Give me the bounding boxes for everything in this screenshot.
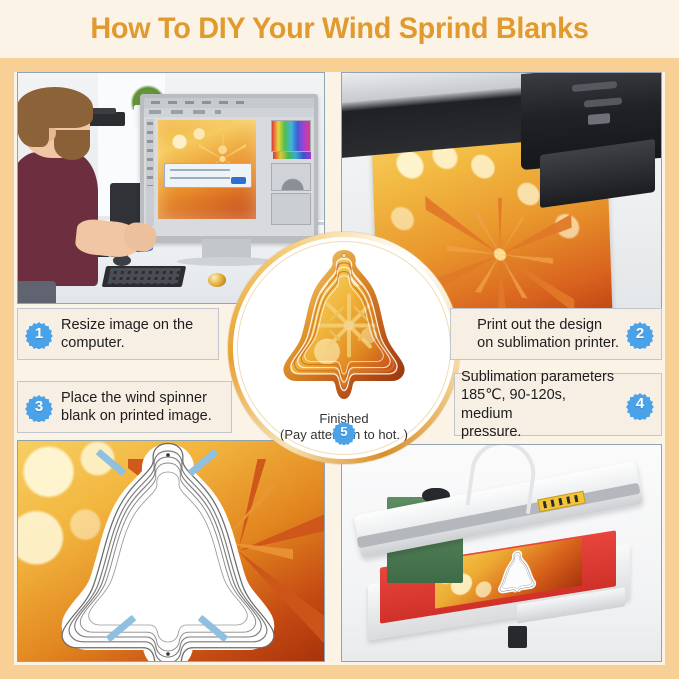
bell-spinner-icon: [269, 243, 419, 408]
step-badge-3: 3: [24, 392, 54, 422]
layers-panel: [271, 193, 310, 225]
app-toolbar: [144, 108, 314, 118]
person-beard: [54, 130, 91, 160]
step-badge-5: 5: [331, 419, 357, 445]
caption-step-1-text: Resize image on the computer.: [61, 316, 193, 352]
app-tool-palette: [146, 119, 155, 226]
app-menu-bar: [144, 98, 314, 108]
gold-ornament-ball: [208, 273, 226, 287]
histogram-panel: [271, 163, 310, 191]
color-picker-panel: [271, 120, 310, 152]
caption-3-line-2: blank on printed image.: [61, 407, 212, 425]
step-badge-4: 4: [625, 390, 655, 420]
caption-4-line-3: pressure.: [461, 423, 619, 441]
heat-press-handle: [465, 444, 539, 514]
caption-step-2: Print out the design on sublimation prin…: [450, 308, 662, 360]
step-badge-2-number: 2: [636, 325, 644, 344]
caption-step-1: 1 Resize image on the computer.: [17, 308, 219, 360]
caption-2-line-1: Print out the design: [477, 316, 619, 334]
frame-band-bottom: [0, 665, 679, 679]
caption-4-line-2: 185℃, 90-120s, medium: [461, 386, 619, 422]
printer-power-button: [588, 113, 610, 125]
heat-press-foot: [508, 626, 527, 648]
color-spectrum-strip: [273, 152, 310, 159]
dialog-ok-button: [231, 177, 246, 184]
caption-step-4-text: Sublimation parameters 185℃, 90-120s, me…: [461, 368, 619, 441]
page-title: How To DIY Your Wind Sprind Blanks: [90, 12, 588, 46]
frame-band-left: [0, 58, 14, 679]
caption-4-line-1: Sublimation parameters: [461, 368, 619, 386]
monitor-screen: [144, 98, 314, 236]
caption-2-line-2: on sublimation printer.: [477, 334, 619, 352]
caption-step-2-text: Print out the design on sublimation prin…: [477, 316, 619, 352]
frame-band-right: [665, 58, 679, 679]
person-hair-side: [17, 104, 49, 147]
finished-caption: Finished (Pay attention to hot. ) 5: [233, 411, 455, 444]
frame-band-top: [0, 58, 679, 72]
step-badge-5-number: 5: [340, 424, 347, 440]
step-badge-1-number: 1: [35, 325, 43, 344]
title-bar: How To DIY Your Wind Sprind Blanks: [0, 0, 679, 58]
computer-monitor: [140, 94, 317, 244]
caption-1-line-1: Resize image on the: [61, 316, 193, 334]
step-badge-1: 1: [24, 319, 54, 349]
step-badge-4-number: 4: [636, 395, 644, 414]
infographic-page: How To DIY Your Wind Sprind Blanks: [0, 0, 679, 679]
photo-step-3-place-blank: [17, 440, 325, 662]
step-badge-3-number: 3: [35, 398, 43, 417]
caption-step-3: 3 Place the wind spinner blank on printe…: [17, 381, 232, 433]
person-at-desk: [17, 87, 134, 303]
person-leg: [17, 281, 56, 304]
caption-step-3-text: Place the wind spinner blank on printed …: [61, 389, 212, 425]
resize-dialog: [164, 163, 251, 188]
photo-step-4-heat-press: [341, 444, 662, 662]
caption-step-4: Sublimation parameters 185℃, 90-120s, me…: [454, 373, 662, 436]
caption-3-line-1: Place the wind spinner: [61, 389, 212, 407]
step-badge-2: 2: [625, 319, 655, 349]
bell-blank-outline: [18, 441, 325, 662]
finished-product-circle: Finished (Pay attention to hot. ) 5: [228, 232, 460, 464]
caption-1-line-2: computer.: [61, 334, 193, 352]
